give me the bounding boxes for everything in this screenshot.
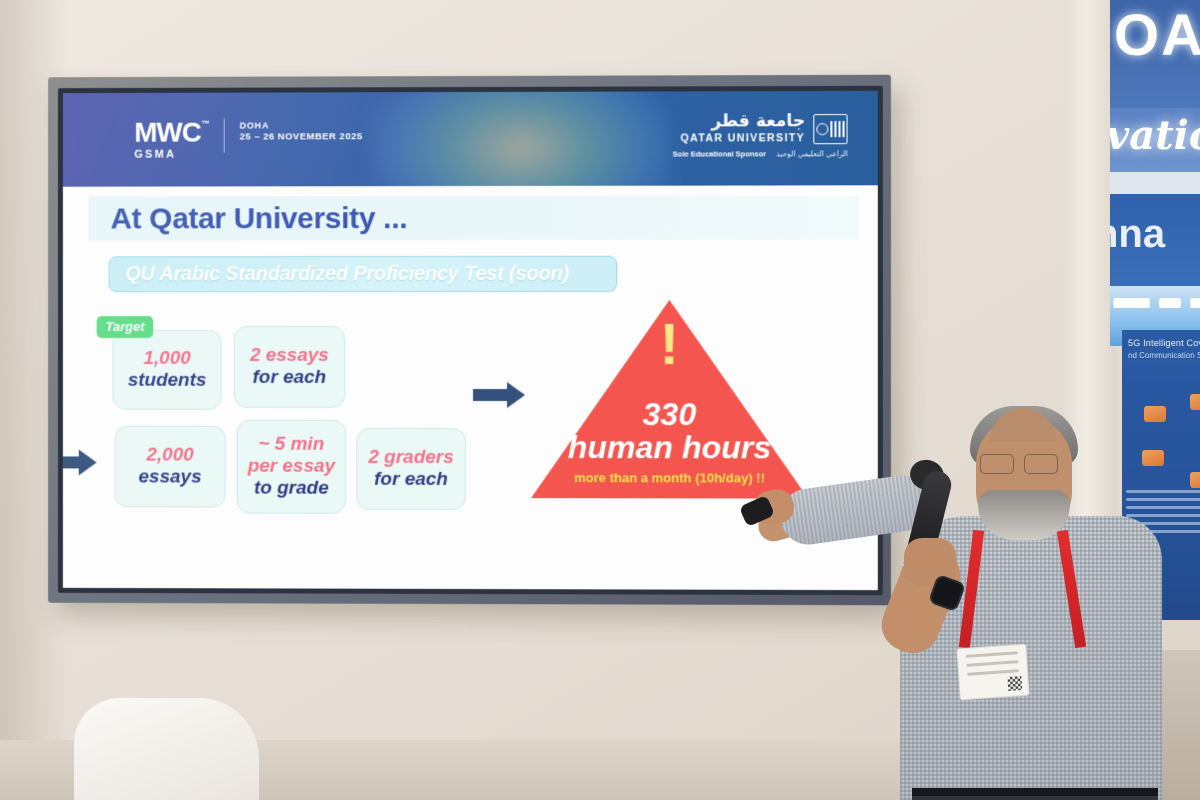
screen-glare-spot [371, 91, 671, 187]
booth-name-sign-text: nna [1110, 212, 1165, 257]
mwc-logo: MWC™ GSMA [134, 119, 201, 161]
booth-poster-title: 5G Intelligent Coverage S [1128, 338, 1200, 348]
fact-number-secondary: per essay [248, 456, 335, 478]
booth-mid-sign: vatio [1110, 108, 1200, 172]
result-warning-triangle: ! 330 human hours more than a month (10h… [531, 300, 808, 499]
booth-poster-subtitle: nd Communication Solution [1128, 351, 1200, 360]
qu-emblem-book [830, 121, 844, 137]
fact-number: 1,000 [143, 348, 190, 370]
fact-box-total-essays: 2,000 essays [114, 426, 225, 508]
booth-top-sign-text: OA [1114, 2, 1200, 69]
fact-label: students [128, 370, 207, 392]
booth-divider-band [1110, 172, 1200, 194]
header-divider [224, 119, 225, 153]
booth-name-sign: nna [1110, 194, 1200, 290]
fact-label: essays [139, 467, 202, 489]
arrow-left-into-row2 [63, 449, 101, 475]
mwc-event-info: DOHA 25 – 26 NOVEMBER 2025 [240, 120, 363, 142]
qu-sponsor-line: Sole Educational Sponsor الراعي التعليمي… [673, 149, 848, 158]
result-value: 330 [531, 396, 808, 433]
fact-box-students: 1,000 students [112, 330, 221, 410]
exclamation-icon: ! [531, 322, 808, 367]
qatar-university-logo: جامعة قطر QATAR UNIVERSITY Sole Educatio… [673, 113, 848, 159]
badge-qr-code [1007, 676, 1022, 691]
qu-name-arabic: جامعة قطر [680, 113, 805, 130]
fact-box-essays-each: 2 essays for each [234, 326, 346, 408]
presenter-beard [978, 490, 1070, 540]
arrow-shaft [473, 389, 509, 401]
slide-header: MWC™ GSMA DOHA 25 – 26 NOVEMBER 2025 [63, 91, 878, 187]
slide-subtitle-banner: QU Arabic Standardized Proficiency Test … [109, 256, 618, 292]
booth-mid-sign-text: vatio [1110, 112, 1200, 159]
poster-icon-2 [1190, 394, 1200, 410]
fact-label: for each [374, 469, 448, 491]
trademark-icon: ™ [201, 120, 209, 129]
eyeglass-left [980, 454, 1014, 474]
fact-number: 2,000 [146, 445, 193, 467]
eyeglass-right [1024, 454, 1058, 474]
fact-label: for each [253, 367, 327, 389]
arrow-head [507, 382, 525, 408]
qu-name-english: QATAR UNIVERSITY [680, 132, 805, 144]
mwc-org-label: GSMA [134, 149, 201, 161]
poster-icon-4 [1190, 472, 1200, 488]
chair [74, 698, 259, 800]
qu-sponsor-english: Sole Educational Sponsor [673, 149, 766, 158]
result-note: more than a month (10h/day) !! [531, 470, 808, 485]
fact-number: 2 essays [250, 345, 329, 367]
slide-subtitle-text: QU Arabic Standardized Proficiency Test … [125, 262, 569, 285]
arrow-to-result [473, 382, 529, 408]
mwc-wordmark: MWC™ [134, 119, 201, 147]
mwc-wordmark-text: MWC [134, 117, 201, 148]
event-city: DOHA [240, 120, 363, 130]
fact-number: ~ 5 min [259, 434, 325, 456]
slide-title: At Qatar University ... [111, 202, 408, 236]
presentation-scene: OA vatio nna 5G Intelligent Coverage S n… [0, 0, 1200, 800]
qu-name-row: جامعة قطر QATAR UNIVERSITY [673, 113, 848, 145]
presenter [858, 398, 1188, 800]
qu-emblem-circle [816, 123, 828, 135]
qu-sponsor-arabic: الراعي التعليمي الوحيد [776, 149, 847, 158]
qu-emblem-icon [813, 114, 847, 144]
conference-badge [956, 644, 1029, 701]
event-dates: 25 – 26 NOVEMBER 2025 [240, 131, 363, 142]
result-unit: human hours [531, 429, 808, 466]
presenter-trousers [912, 796, 1158, 800]
qu-name-block: جامعة قطر QATAR UNIVERSITY [680, 113, 805, 144]
fact-number: 2 graders [368, 447, 453, 469]
fact-box-graders: 2 graders for each [356, 428, 466, 510]
booth-top-sign: OA [1110, 0, 1200, 114]
fact-label: to grade [254, 478, 329, 500]
target-badge: Target [97, 316, 154, 338]
arrow-head [79, 450, 97, 476]
fact-box-minutes-per-essay: ~ 5 min per essay to grade [237, 420, 347, 514]
